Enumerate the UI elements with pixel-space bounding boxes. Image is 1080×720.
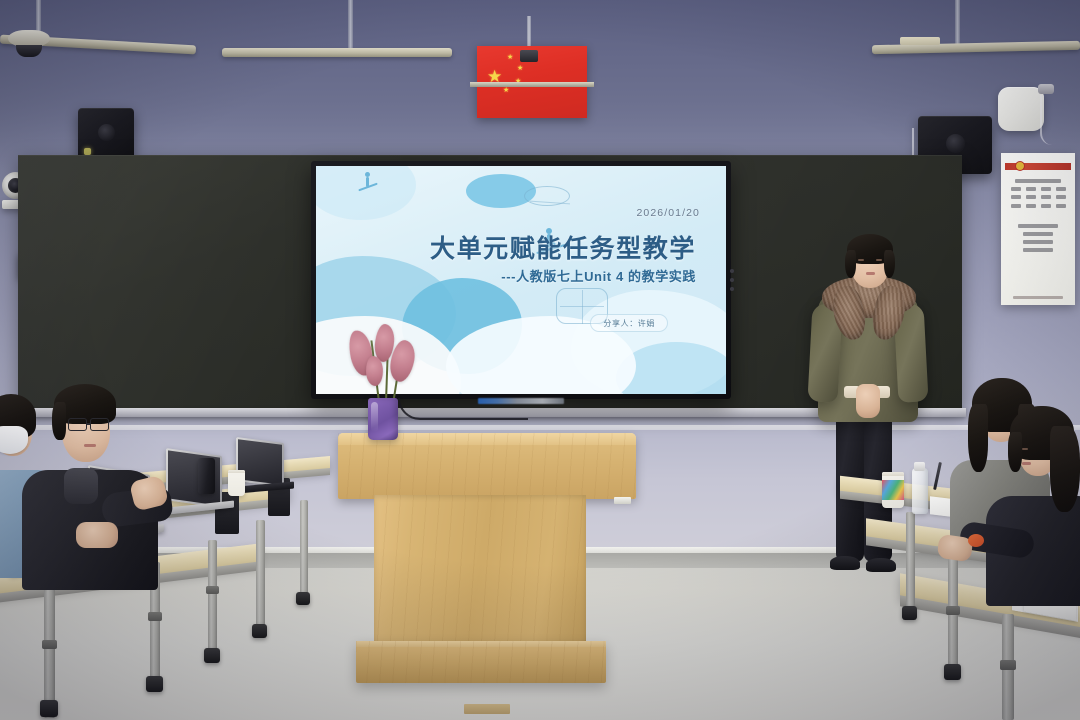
presenter-mouth [866,272,875,275]
cup-lid [882,472,904,476]
desk-leg-joint [206,586,219,594]
attendee-hand-2 [76,522,118,548]
display-button[interactable] [730,269,734,273]
slide-figure-illustration [356,172,382,198]
flag-star-small: ★ [517,65,523,72]
lectern-base [356,641,606,683]
desk-caster [944,664,961,680]
display-button[interactable] [730,287,734,291]
desk-leg-joint [1000,660,1016,670]
flag-star-small: ★ [507,54,513,61]
desk-caster [40,700,58,717]
desk-leg [906,512,915,616]
flag-mount-bar [470,82,594,87]
attendee-hair-left [1008,432,1022,472]
bottle-cap [914,462,925,471]
presenter-hair-side-left [845,250,856,278]
desk-leg-joint [946,606,960,615]
glasses-lens-right [90,418,109,431]
lamp-head-right [900,37,940,45]
desk-leg [300,500,308,600]
presenter-hair-side-right [884,250,895,278]
classroom-photo: ★ ★ ★ ★ ★ [0,0,1080,720]
paper-cup-left [228,470,245,496]
slide-presenter-label: 分享人：许娟 [590,314,668,332]
attendee-hair-left [968,404,988,472]
flag-star-small: ★ [503,87,509,94]
cup-lid [228,470,245,473]
desk-leg [44,588,55,718]
glasses-lens-left [68,418,87,431]
wrist-bracelet [968,534,984,547]
presenter-shoe-right [866,558,896,572]
attendee-mouth [84,444,96,447]
flag-clip [520,50,538,62]
lectern-top [338,433,636,499]
slide-subtitle: ---人教版七上Unit 4 的教学实践 [316,266,710,285]
display-button[interactable] [730,278,734,282]
attendee-inner-collar [64,468,98,504]
water-bottle [912,468,928,514]
presenter-clasped-hands [856,384,880,418]
light-mount-rod-center [348,0,353,50]
desk-leg-joint [42,640,57,649]
desk-leg [948,556,958,676]
desk-leg-joint [148,612,162,621]
flower-vase [368,398,398,440]
poster-emblem-icon [1015,161,1025,171]
paper-cup-right [882,472,904,508]
poster-footer-line [1013,296,1063,300]
desk-leg [256,520,265,632]
display-side-buttons[interactable] [730,269,735,291]
ap-cable [1040,95,1052,145]
desk-caster [146,676,163,692]
cup-graphic-band [882,480,904,500]
desk-caster [296,592,310,605]
lectern-label-plate [614,497,631,504]
desk-caster [902,606,917,620]
wifi-access-point [998,87,1044,131]
speaker-led [84,148,91,155]
desk-leg [208,540,217,660]
attendee-writing-right [996,404,1080,594]
presenter-shoe-left [830,556,860,570]
speaker-driver [946,134,965,153]
attendee-hair-side [52,402,66,440]
display-power-cable [398,398,528,420]
poster-text-block [1008,179,1068,256]
black-tumbler [198,458,215,494]
attendee-hair-right [1050,426,1080,512]
speaker-driver [98,124,115,141]
ceiling-light-bar-center [222,48,452,57]
slide-date: 2026/01/20 [636,207,700,219]
wall-speaker-left [78,108,134,160]
slide-title: 大单元赋能任务型教学 [316,229,710,265]
floor-nameplate [464,704,510,714]
attendee-glasses [28,382,160,592]
core-socialist-values-poster [1001,153,1075,305]
slide-doodle-line [582,290,583,324]
wooden-lectern [338,433,636,683]
desk-caster [204,648,220,663]
ap-mount-arm [1038,84,1054,94]
glasses-bridge [87,423,91,425]
lectern-column [374,495,586,647]
light-mount-rod-right [955,0,960,44]
desk-caster [252,624,267,638]
attendee-mouth [1022,462,1031,465]
